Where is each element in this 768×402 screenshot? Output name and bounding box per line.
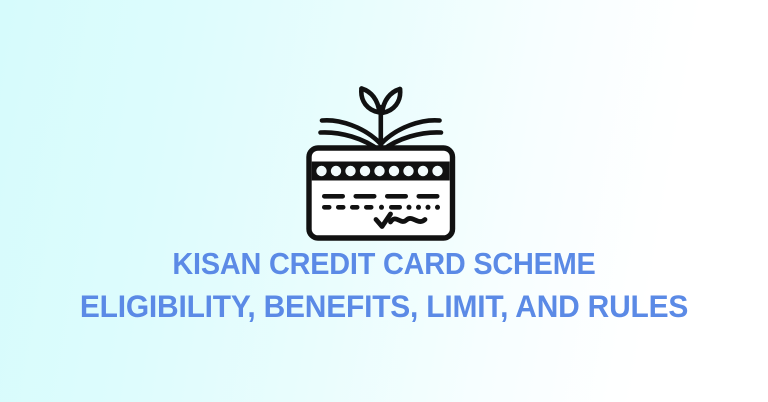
illustration-container	[0, 74, 768, 242]
credit-card-with-sprout-icon	[294, 74, 474, 242]
headline-line-1: KISAN CREDIT CARD SCHEME	[27, 243, 741, 285]
headline: KISAN CREDIT CARD SCHEME ELIGIBILITY, BE…	[0, 243, 768, 327]
headline-line-2: ELIGIBILITY, BENEFITS, LIMIT, AND RULES	[19, 285, 749, 327]
sprout-icon	[321, 89, 442, 153]
credit-card-icon	[309, 148, 453, 238]
card-strip-dots	[316, 166, 442, 176]
banner: KISAN CREDIT CARD SCHEME ELIGIBILITY, BE…	[0, 0, 768, 402]
